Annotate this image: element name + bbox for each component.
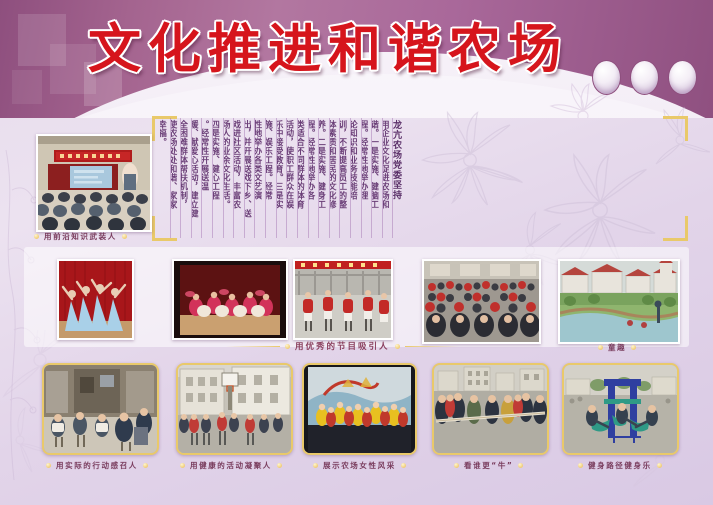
vertical-text-block: 龙亢农场党委坚持 用企业文化促进农场和 谐。一是实施、健脑工 程。经常性地举办理…: [160, 118, 403, 238]
bead-icon: [657, 463, 662, 468]
caption-bottom-3: 展示农场女性风采: [313, 460, 406, 471]
photo-blue-dress-dance[interactable]: [57, 259, 134, 340]
header-dot-1: [592, 60, 621, 95]
photo-lecture-hall[interactable]: [36, 134, 152, 232]
text-column: 活动，使职工群众在娱: [287, 118, 298, 238]
text-column: 谐。一是实施、健脑工: [372, 118, 383, 238]
caption-rule-left: [226, 346, 280, 347]
photo-village-meeting[interactable]: [42, 363, 159, 455]
bead-icon: [518, 463, 523, 468]
text-column: 类适合不同群体的体育: [298, 118, 309, 238]
bead-icon: [631, 345, 636, 350]
bead-icon: [578, 463, 583, 468]
page-title: 文化推进和谐农场: [88, 18, 648, 82]
caption-text: 展示农场女性风采: [323, 460, 396, 471]
bead-icon: [180, 463, 185, 468]
header-square-4: [12, 70, 42, 104]
header-dot-2: [630, 60, 659, 95]
text-column: 施、娱乐工程。经常: [266, 118, 277, 238]
poster-root: 文化推进和谐农场: [0, 0, 713, 505]
text-column: 使农场处处和谐、家家: [171, 118, 182, 238]
bracket-bottom-right: [663, 216, 688, 241]
photo-basketball-game[interactable]: [176, 363, 293, 455]
text-heading: 龙亢农场党委坚持: [393, 118, 403, 238]
photo-village-park[interactable]: [558, 259, 680, 344]
photo-fitness-equipment[interactable]: [562, 363, 679, 455]
caption-rule-right: [405, 346, 459, 347]
header-dot-3: [668, 60, 697, 95]
photo-audience-crowd[interactable]: [422, 259, 541, 344]
caption-mid-right: 童趣: [598, 342, 636, 353]
text-column: 。经常性开展送温: [202, 118, 213, 238]
text-column: 程。经常性地举办理: [362, 118, 373, 238]
bead-icon: [122, 234, 127, 239]
text-column: 四是实施、健心工程: [213, 118, 224, 238]
photo-stage-fan-dance[interactable]: [172, 259, 288, 340]
text-column: 养。二是实施、健身工: [319, 118, 330, 238]
bead-icon: [395, 344, 400, 349]
text-column: 程。经常性地举办各: [309, 118, 320, 238]
bead-icon: [34, 234, 39, 239]
text-column: 戏进社区活动，丰富农: [234, 118, 245, 238]
caption-mid-left: 用优秀的节目吸引人: [226, 340, 459, 352]
text-column: 全困难群体帮扶机制，: [181, 118, 192, 238]
bead-icon: [313, 463, 318, 468]
caption-text: 用前沿知识武装人: [44, 231, 117, 242]
text-column: 乐中接受教育。三是实: [277, 118, 288, 238]
text-column: 场人的业余文化生活。: [224, 118, 235, 238]
text-column: 幸福。: [160, 118, 171, 238]
bead-icon: [598, 345, 603, 350]
text-column: 出，并开展送戏下乡、送: [245, 118, 256, 238]
caption-bottom-2: 用健康的活动凝聚人: [180, 460, 282, 471]
text-column: 论知识和业务技能培: [351, 118, 362, 238]
caption-top-photo: 用前沿知识武装人: [34, 231, 127, 242]
photo-tug-of-war[interactable]: [432, 363, 549, 455]
caption-text: 看谁更“牛”: [464, 460, 513, 471]
caption-text: 健身路径健身乐: [588, 460, 652, 471]
text-column: 暖、献爱心活动，建立健: [192, 118, 203, 238]
header-dot-group: [592, 60, 697, 95]
text-column: 训，不断提高员工的整: [340, 118, 351, 238]
text-column: 性地举办各类文艺演: [255, 118, 266, 238]
text-column: 体素质和居民的文化修: [330, 118, 341, 238]
caption-bottom-5: 健身路径健身乐: [578, 460, 662, 471]
bead-icon: [143, 463, 148, 468]
photo-stage-group-show[interactable]: [302, 363, 417, 455]
bead-icon: [46, 463, 51, 468]
bead-icon: [277, 463, 282, 468]
caption-text: 用健康的活动凝聚人: [190, 460, 272, 471]
caption-text: 用优秀的节目吸引人: [295, 340, 390, 352]
photo-outdoor-parade[interactable]: [293, 259, 393, 340]
text-column: 用企业文化促进农场和: [383, 118, 394, 238]
bracket-top-right: [663, 116, 688, 141]
caption-bottom-1: 用实际的行动感召人: [46, 460, 148, 471]
poster-header: 文化推进和谐农场: [0, 0, 713, 118]
bead-icon: [285, 344, 290, 349]
caption-bottom-4: 看谁更“牛”: [454, 460, 523, 471]
bead-icon: [454, 463, 459, 468]
caption-text: 童趣: [608, 342, 626, 353]
caption-text: 用实际的行动感召人: [56, 460, 138, 471]
bead-icon: [401, 463, 406, 468]
